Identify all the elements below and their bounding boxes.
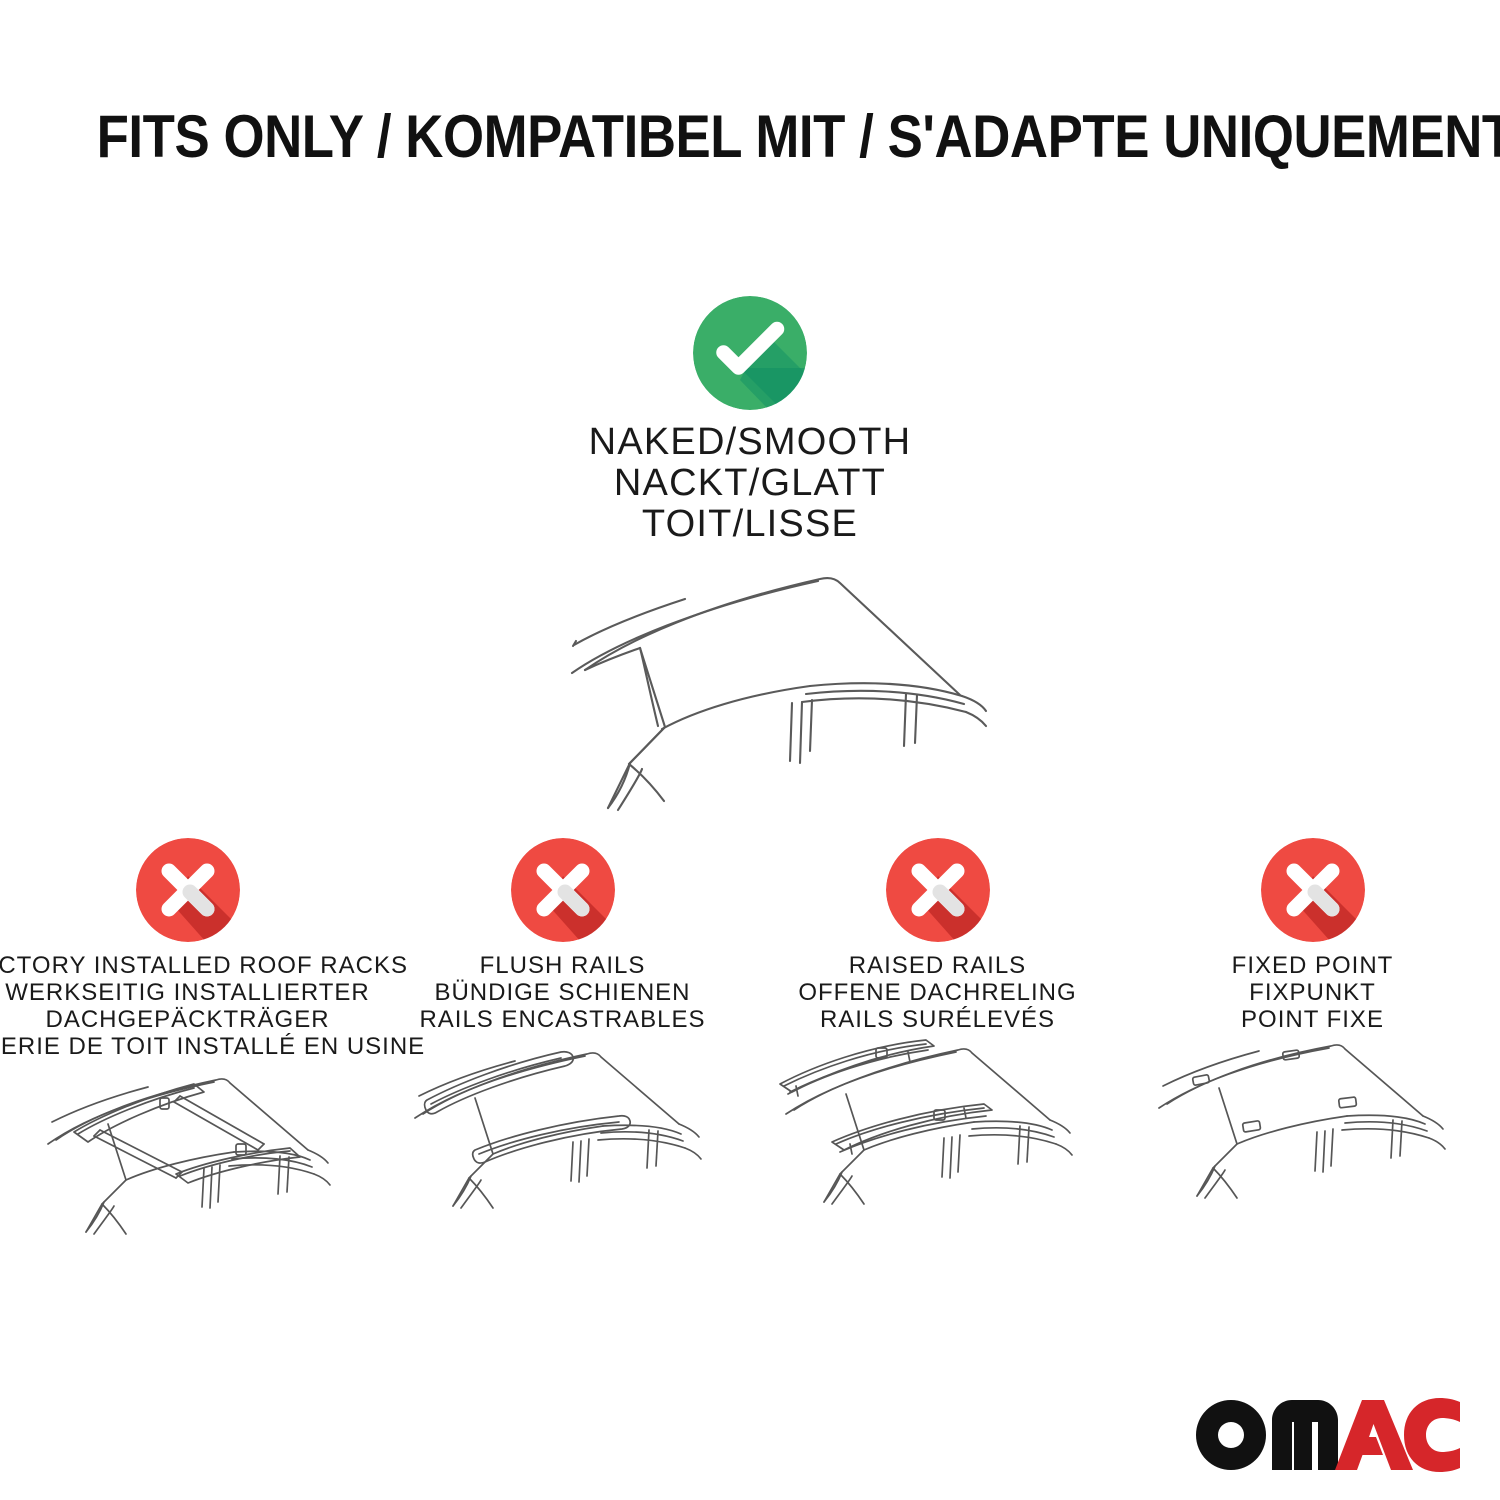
not-compatible-label-fixed-point: FIXED POINT FIXPUNKT POINT FIXE: [1232, 952, 1394, 1036]
label-line-3: RAILS SURÉLEVÉS: [798, 1006, 1076, 1033]
not-compatible-label-factory-racks: FACTORY INSTALLED ROOF RACKS WERKSEITIG …: [0, 952, 425, 1060]
label-line-1: RAISED RAILS: [798, 952, 1076, 979]
roof-with-raised-rails-illustration: [758, 1038, 1118, 1268]
not-compatible-item-flush-rails: FLUSH RAILS BÜNDIGE SCHIENEN RAILS ENCAS…: [375, 838, 750, 1268]
not-compatible-section: FACTORY INSTALLED ROOF RACKS WERKSEITIG …: [0, 838, 1500, 1292]
roof-with-fixed-points-illustration: [1133, 1038, 1493, 1268]
roof-with-factory-racks-illustration: [8, 1062, 368, 1292]
label-line-3: DACHGEPÄCKTRÄGER: [0, 1006, 425, 1033]
x-circle-icon: [136, 838, 240, 942]
label-line-3: RAILS ENCASTRABLES: [419, 1006, 705, 1033]
page-title-text: FITS ONLY / KOMPATIBEL MIT / S'ADAPTE UN…: [97, 104, 1500, 170]
label-line-1: FIXED POINT: [1232, 952, 1394, 979]
compatible-label-line-1: NAKED/SMOOTH: [589, 422, 912, 463]
label-line-1: FLUSH RAILS: [419, 952, 705, 979]
bare-car-roof-illustration: [490, 563, 1010, 843]
label-line-1: FACTORY INSTALLED ROOF RACKS: [0, 952, 425, 979]
x-circle-icon: [1261, 838, 1365, 942]
x-circle-icon: [886, 838, 990, 942]
not-compatible-item-factory-racks: FACTORY INSTALLED ROOF RACKS WERKSEITIG …: [0, 838, 375, 1292]
label-line-2: FIXPUNKT: [1232, 979, 1394, 1006]
page-title: FITS ONLY / KOMPATIBEL MIT / S'ADAPTE UN…: [0, 104, 1500, 170]
not-compatible-item-raised-rails: RAISED RAILS OFFENE DACHRELING RAILS SUR…: [750, 838, 1125, 1268]
not-compatible-item-fixed-point: FIXED POINT FIXPUNKT POINT FIXE: [1125, 838, 1500, 1268]
check-circle-icon: [693, 296, 807, 410]
compatible-section: NAKED/SMOOTH NACKT/GLATT TOIT/LISSE: [0, 296, 1500, 843]
compatible-label-line-3: TOIT/LISSE: [589, 504, 912, 545]
label-line-2: BÜNDIGE SCHIENEN: [419, 979, 705, 1006]
not-compatible-label-flush-rails: FLUSH RAILS BÜNDIGE SCHIENEN RAILS ENCAS…: [419, 952, 705, 1036]
omac-logo: OMAC: [1194, 1398, 1462, 1472]
label-line-2: OFFENE DACHRELING: [798, 979, 1076, 1006]
compatible-label: NAKED/SMOOTH NACKT/GLATT TOIT/LISSE: [589, 422, 912, 545]
label-line-4: GALERIE DE TOIT INSTALLÉ EN USINE: [0, 1033, 425, 1060]
x-circle-icon: [511, 838, 615, 942]
compatible-label-line-2: NACKT/GLATT: [589, 463, 912, 504]
label-line-2: WERKSEITIG INSTALLIERTER: [0, 979, 425, 1006]
not-compatible-label-raised-rails: RAISED RAILS OFFENE DACHRELING RAILS SUR…: [798, 952, 1076, 1036]
label-line-3: POINT FIXE: [1232, 1006, 1394, 1033]
roof-with-flush-rails-illustration: [383, 1038, 743, 1268]
